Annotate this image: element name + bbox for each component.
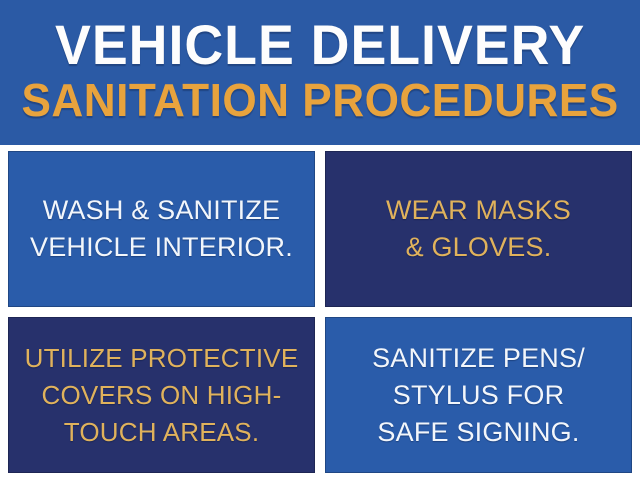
procedure-panel-text: WASH & SANITIZE VEHICLE INTERIOR. [30, 192, 293, 266]
poster-header: VEHICLE DELIVERY SANITATION PROCEDURES [0, 0, 640, 145]
procedure-panel-text: SANITIZE PENS/ STYLUS FOR SAFE SIGNING. [372, 340, 585, 451]
procedure-panel-grid: WASH & SANITIZE VEHICLE INTERIOR. WEAR M… [8, 151, 632, 473]
sanitation-procedures-poster: VEHICLE DELIVERY SANITATION PROCEDURES W… [0, 0, 640, 480]
procedure-panel-sanitize-pens-stylus: SANITIZE PENS/ STYLUS FOR SAFE SIGNING. [325, 317, 632, 473]
procedure-panel-wash-sanitize-interior: WASH & SANITIZE VEHICLE INTERIOR. [8, 151, 315, 307]
poster-title-primary: VEHICLE DELIVERY [55, 16, 585, 74]
procedure-panel-protective-covers: UTILIZE PROTECTIVE COVERS ON HIGH- TOUCH… [8, 317, 315, 473]
procedure-panel-text: UTILIZE PROTECTIVE COVERS ON HIGH- TOUCH… [25, 340, 299, 451]
procedure-panel-wear-masks-gloves: WEAR MASKS & GLOVES. [325, 151, 632, 307]
poster-title-secondary: SANITATION PROCEDURES [21, 76, 618, 124]
procedure-panel-text: WEAR MASKS & GLOVES. [386, 192, 571, 266]
